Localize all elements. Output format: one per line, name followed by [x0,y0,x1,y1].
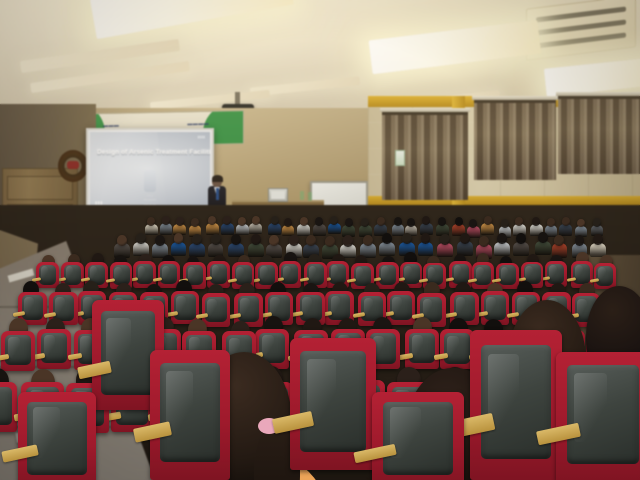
auditorium-seat [372,392,464,480]
audience-member [440,234,450,245]
audience-member [469,219,477,228]
audience-member-head [223,216,231,225]
audience-member-head [252,216,260,225]
seat-back-pad [160,264,177,284]
audience-member-head [155,235,165,246]
audience-member [136,233,146,244]
audience-member [300,217,308,226]
auditorium-seat [0,382,17,432]
audience-member-head [269,235,279,246]
audience-member-head [538,232,548,243]
audience-member [515,217,523,226]
audience-member [421,233,431,244]
auditorium-seat [37,329,71,369]
audience-member-head [300,217,308,226]
audience-member-head [407,218,415,227]
audience-member [174,233,184,244]
audience-member [484,216,492,225]
audience-member [575,235,585,246]
seat-back-pad [210,264,227,284]
audience-member [538,232,548,243]
audience-member-head [343,235,353,246]
audience-member-head [315,217,323,226]
audience-member-head [438,217,446,226]
seat-back-pad [205,297,227,323]
audience-member [363,235,373,246]
seat-back-pad [300,351,365,451]
audience-member [208,216,216,225]
audience-member-head [271,216,279,225]
audience-member [223,216,231,225]
audience-member-head [460,233,470,244]
audience-member-head [325,236,335,247]
audience-member-head [484,216,492,225]
seat-back-pad [0,387,12,425]
audience-member-head [251,234,261,245]
seat-back-pad [444,333,470,363]
audience-member [455,217,463,226]
seat-back-pad [573,264,590,284]
audience-member [562,217,570,226]
audience-member-head [382,233,392,244]
auditorium-seat [405,329,439,369]
audience-member [438,217,446,226]
audience-member-head [238,217,246,226]
audience-member [407,218,415,227]
audience-member-head [501,219,509,228]
seat-back-pad [174,294,196,320]
audience-member [345,218,353,227]
audience-member [252,216,260,225]
seating-area [0,0,640,480]
audience-member [593,218,601,227]
audience-member [162,216,170,225]
audience-member [289,235,299,246]
seat-back-pad [307,264,324,284]
audience-member [361,218,369,227]
audience-member [402,233,412,244]
audience-member-head [176,217,184,226]
seat-back-pad [238,296,260,322]
audience-member-head [345,218,353,227]
audience-member-head [330,216,338,225]
audience-member-head [593,218,601,227]
audience-member [377,217,385,226]
seat-back-pad [101,311,156,395]
audience-member-head [402,233,412,244]
audience-member [269,235,279,246]
auditorium-seat [470,330,562,480]
audience-member [532,217,540,226]
audience-member [394,217,402,226]
audience-member [460,233,470,244]
audience-member-torso [206,223,219,235]
audience-member [547,218,555,227]
audience-member [176,217,184,226]
seat-back-pad [160,363,221,462]
seat-back-pad [281,264,298,284]
auditorium-seat [18,392,96,480]
seat-back-pad [484,295,506,321]
audience-member [192,234,202,245]
audience-member [271,216,279,225]
auditorium-seat [1,331,35,371]
audience-member [211,234,221,245]
audience-member-head [192,234,202,245]
audience-member-head [554,235,564,246]
audience-member [577,219,585,228]
audience-member [554,235,564,246]
audience-member-head [211,234,221,245]
audience-member-head [377,217,385,226]
seat-back-pad [547,264,564,284]
audience-member [479,236,489,247]
audience-member [155,235,165,246]
audience-member-head [136,233,146,244]
audience-member-head [162,216,170,225]
audience-member [315,217,323,226]
audience-member-head [497,233,507,244]
seat-back-pad [39,265,56,285]
audience-member-head [284,218,292,227]
audience-member [501,219,509,228]
seat-back-pad [409,333,435,363]
audience-member [191,218,199,227]
audience-member [343,235,353,246]
audience-member-head [479,236,489,247]
audience-member-torso [418,242,434,256]
audience-member-head [562,217,570,226]
audience-member [147,217,155,226]
audience-member [251,234,261,245]
seat-back-pad [136,264,153,284]
audience-member [422,216,430,225]
seat-back-pad [452,264,469,284]
seat-back-pad [329,264,346,284]
seat-back-pad [5,335,31,365]
audience-member [306,235,316,246]
seat-back-pad [64,265,81,285]
seat-back-pad [567,365,638,464]
seat-back-pad [22,295,44,321]
seat-back-pad [41,333,67,363]
audience-member [497,233,507,244]
audience-member [330,216,338,225]
audience-member [325,236,335,247]
seat-back-pad [596,266,613,286]
audience-member [516,233,526,244]
audience-member-head [147,217,155,226]
audience-member-head [231,234,241,245]
seat-back-pad [328,294,350,320]
audience-member-head [363,235,373,246]
audience-member-head [469,219,477,228]
audience-member [117,235,127,246]
audience-member [382,233,392,244]
auditorium-seat [150,350,230,480]
audience-member-head [289,235,299,246]
audience-member-head [516,233,526,244]
audience-member-head [117,235,127,246]
seat-back-pad [383,402,453,475]
audience-member-head [455,217,463,226]
audience-member [593,234,603,245]
seat-back-pad [390,295,412,321]
audience-member [284,218,292,227]
audience-member-head [361,218,369,227]
auditorium-seat [556,352,640,480]
seat-back-pad [300,295,322,321]
seat-back-pad [27,402,86,475]
audience-member-head [440,234,450,245]
audience-member-head [547,218,555,227]
audience-member [238,217,246,226]
lecture-hall-photo: ▬▬▬ ▬▬▬▬ ▮▮▮▮ Design of Arsenic Treatmen… [0,0,640,480]
audience-member-head [575,235,585,246]
audience-member [231,234,241,245]
